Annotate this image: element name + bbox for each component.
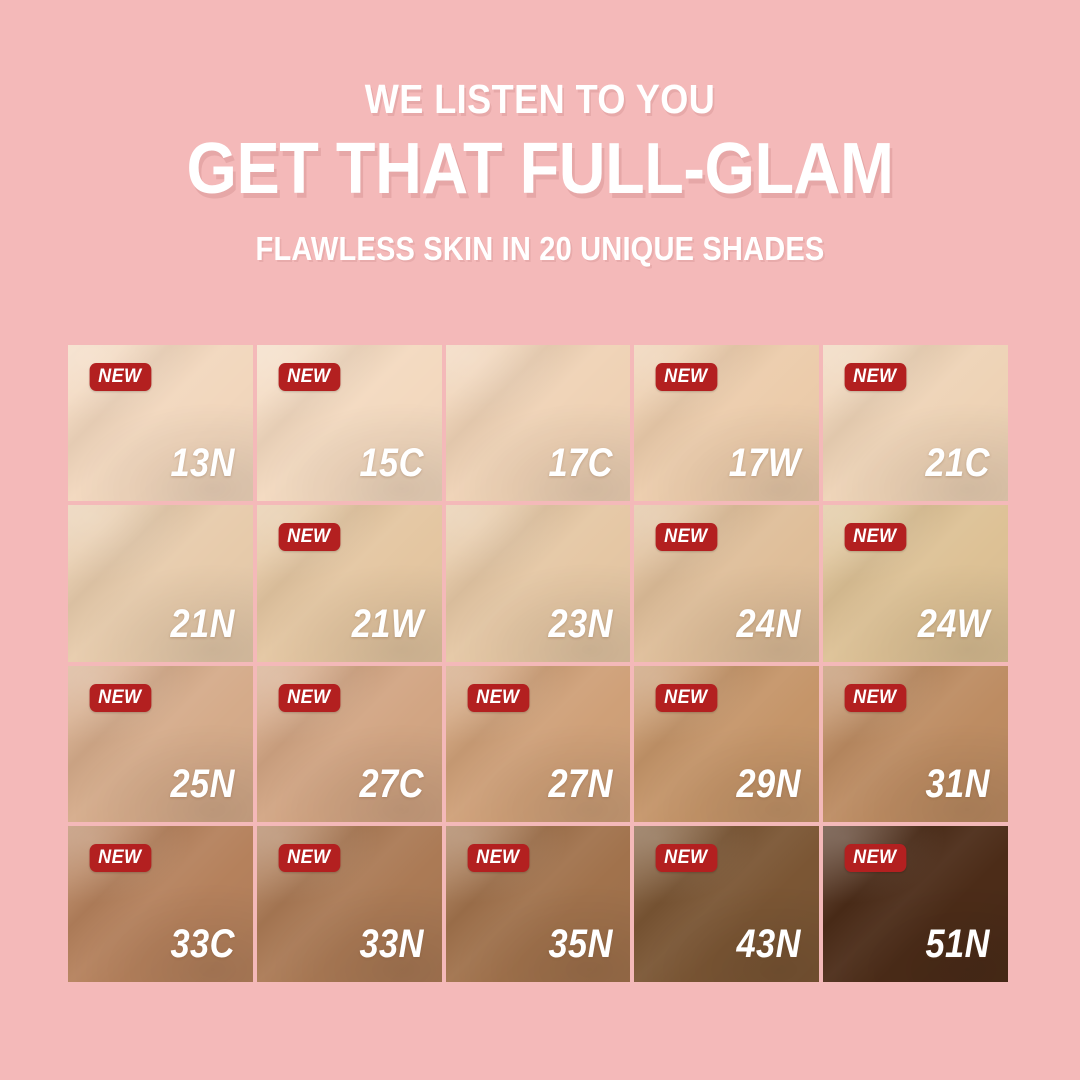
new-badge: NEW: [90, 363, 151, 391]
shade-code-label: 33C: [170, 924, 234, 964]
new-badge: NEW: [467, 684, 528, 712]
shade-code-label: 21C: [926, 443, 990, 483]
shade-code-label: 21N: [170, 604, 234, 644]
shade-swatch-33c[interactable]: NEW33C: [68, 826, 253, 982]
shade-swatch-13n[interactable]: NEW13N: [68, 345, 253, 501]
new-badge: NEW: [278, 684, 339, 712]
shade-swatch-31n[interactable]: NEW31N: [823, 666, 1008, 822]
shade-code-label: 31N: [926, 764, 990, 804]
shade-swatch-29n[interactable]: NEW29N: [634, 666, 819, 822]
new-badge: NEW: [845, 844, 906, 872]
new-badge: NEW: [278, 523, 339, 551]
new-badge: NEW: [656, 523, 717, 551]
shade-code-label: 24W: [918, 604, 990, 644]
shade-code-label: 23N: [548, 604, 612, 644]
shade-swatch-25n[interactable]: NEW25N: [68, 666, 253, 822]
shade-swatch-21n[interactable]: 21N: [68, 505, 253, 661]
shade-swatch-15c[interactable]: NEW15C: [257, 345, 442, 501]
new-badge: NEW: [845, 523, 906, 551]
shade-code-label: 15C: [359, 443, 423, 483]
shade-swatch-35n[interactable]: NEW35N: [446, 826, 631, 982]
shade-code-label: 13N: [170, 443, 234, 483]
shade-swatch-33n[interactable]: NEW33N: [257, 826, 442, 982]
shade-swatch-23n[interactable]: 23N: [446, 505, 631, 661]
shade-swatch-27n[interactable]: NEW27N: [446, 666, 631, 822]
new-badge: NEW: [90, 844, 151, 872]
shade-swatch-24n[interactable]: NEW24N: [634, 505, 819, 661]
shade-code-label: 35N: [548, 924, 612, 964]
shade-swatch-27c[interactable]: NEW27C: [257, 666, 442, 822]
new-badge: NEW: [278, 844, 339, 872]
headline-kicker: WE LISTEN TO YOU: [65, 78, 1015, 121]
shade-code-label: 51N: [926, 924, 990, 964]
new-badge: NEW: [656, 684, 717, 712]
new-badge: NEW: [467, 844, 528, 872]
shade-swatch-51n[interactable]: NEW51N: [823, 826, 1008, 982]
shade-swatch-21c[interactable]: NEW21C: [823, 345, 1008, 501]
new-badge: NEW: [90, 684, 151, 712]
shade-code-label: 21W: [352, 604, 424, 644]
shade-code-label: 43N: [737, 924, 801, 964]
headline-subtitle: FLAWLESS SKIN IN 20 UNIQUE SHADES: [65, 232, 1015, 267]
shade-code-label: 17C: [548, 443, 612, 483]
new-badge: NEW: [845, 363, 906, 391]
shade-swatch-24w[interactable]: NEW24W: [823, 505, 1008, 661]
headline-main: GET THAT FULL-GLAM: [54, 129, 1026, 210]
shade-swatch-17c[interactable]: 17C: [446, 345, 631, 501]
shade-code-label: 27N: [548, 764, 612, 804]
shade-range-promo-image: { "background_color": "#f4b9b9", "headli…: [0, 0, 1080, 1080]
shade-code-label: 29N: [737, 764, 801, 804]
shade-swatch-21w[interactable]: NEW21W: [257, 505, 442, 661]
new-badge: NEW: [656, 363, 717, 391]
shade-code-label: 27C: [359, 764, 423, 804]
shade-code-label: 25N: [170, 764, 234, 804]
shade-code-label: 33N: [359, 924, 423, 964]
new-badge: NEW: [845, 684, 906, 712]
headline-block: WE LISTEN TO YOU GET THAT FULL-GLAM FLAW…: [0, 0, 1080, 266]
new-badge: NEW: [278, 363, 339, 391]
shade-code-label: 17W: [729, 443, 801, 483]
shade-swatch-43n[interactable]: NEW43N: [634, 826, 819, 982]
shade-grid: NEW13NNEW15C17CNEW17WNEW21C21NNEW21W23NN…: [68, 345, 1008, 982]
shade-swatch-17w[interactable]: NEW17W: [634, 345, 819, 501]
shade-code-label: 24N: [737, 604, 801, 644]
new-badge: NEW: [656, 844, 717, 872]
